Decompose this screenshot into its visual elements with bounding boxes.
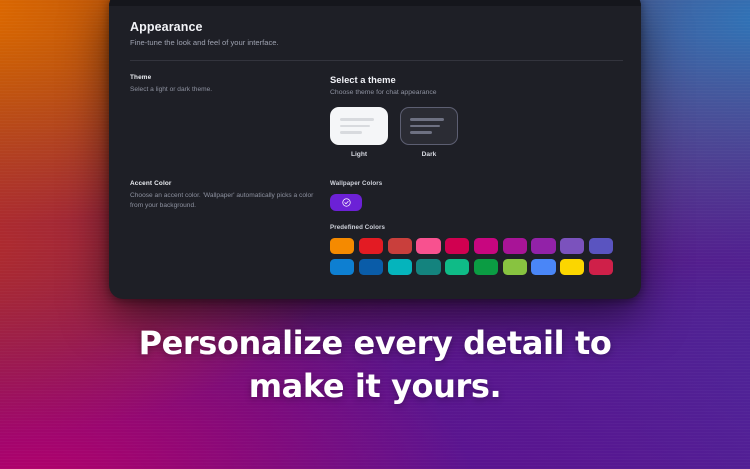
settings-content: Appearance Fine-tune the look and feel o… [109,6,641,275]
select-theme-subtitle: Choose theme for chat appearance [330,89,623,96]
preview-line [410,125,440,128]
section-divider [130,60,623,61]
theme-option-label-dark: Dark [422,151,437,158]
theme-options: Light Dark [330,107,623,158]
preview-line [340,118,374,121]
check-circle-icon [342,198,351,207]
color-swatch[interactable] [388,238,412,254]
color-swatch[interactable] [503,259,527,275]
accent-section-description: Choose an accent color. 'Wallpaper' auto… [130,191,316,211]
color-swatch[interactable] [589,238,613,254]
accent-left-column: Accent Color Choose an accent color. 'Wa… [130,180,330,275]
preview-line [410,131,432,134]
accent-section-label: Accent Color [130,180,316,187]
preview-line [340,131,362,134]
color-swatch[interactable] [531,238,555,254]
color-swatch[interactable] [359,238,383,254]
theme-preview-dark[interactable] [400,107,458,145]
page-subtitle: Fine-tune the look and feel of your inte… [130,38,623,47]
theme-preview-light[interactable] [330,107,388,145]
color-swatch[interactable] [445,259,469,275]
color-swatch[interactable] [589,259,613,275]
predefined-colors-grid [330,238,613,275]
page-title: Appearance [130,20,623,34]
select-theme-title: Select a theme [330,74,623,85]
caption-line-1: Personalize every detail to [0,322,750,365]
theme-left-column: Theme Select a light or dark theme. [130,74,330,158]
color-swatch[interactable] [560,259,584,275]
predefined-colors-label: Predefined Colors [330,224,623,231]
accent-color-row: Accent Color Choose an accent color. 'Wa… [130,180,623,275]
theme-option-light[interactable]: Light [330,107,388,158]
preview-line [410,118,444,121]
color-swatch[interactable] [388,259,412,275]
caption-line-2: make it yours. [0,365,750,408]
theme-option-dark[interactable]: Dark [400,107,458,158]
color-swatch[interactable] [359,259,383,275]
app-window: Appearance Fine-tune the look and feel o… [109,0,641,299]
color-swatch[interactable] [330,238,354,254]
promo-caption: Personalize every detail to make it your… [0,322,750,407]
color-swatch[interactable] [503,238,527,254]
color-swatch[interactable] [416,259,440,275]
color-swatch[interactable] [330,259,354,275]
theme-section-description: Select a light or dark theme. [130,85,316,95]
color-swatch[interactable] [474,259,498,275]
color-swatch[interactable] [474,238,498,254]
wallpaper-colors-label: Wallpaper Colors [330,180,623,187]
color-swatch[interactable] [416,238,440,254]
wallpaper-colors-row [330,194,623,211]
theme-option-label-light: Light [351,151,367,158]
wallpaper-color-swatch[interactable] [330,194,362,211]
theme-section-label: Theme [130,74,316,81]
color-swatch[interactable] [560,238,584,254]
accent-right-column: Wallpaper Colors Predefined Colors [330,180,623,275]
color-swatch[interactable] [445,238,469,254]
preview-line [340,125,370,128]
theme-right-column: Select a theme Choose theme for chat app… [330,74,623,158]
color-swatch[interactable] [531,259,555,275]
theme-row: Theme Select a light or dark theme. Sele… [130,74,623,158]
